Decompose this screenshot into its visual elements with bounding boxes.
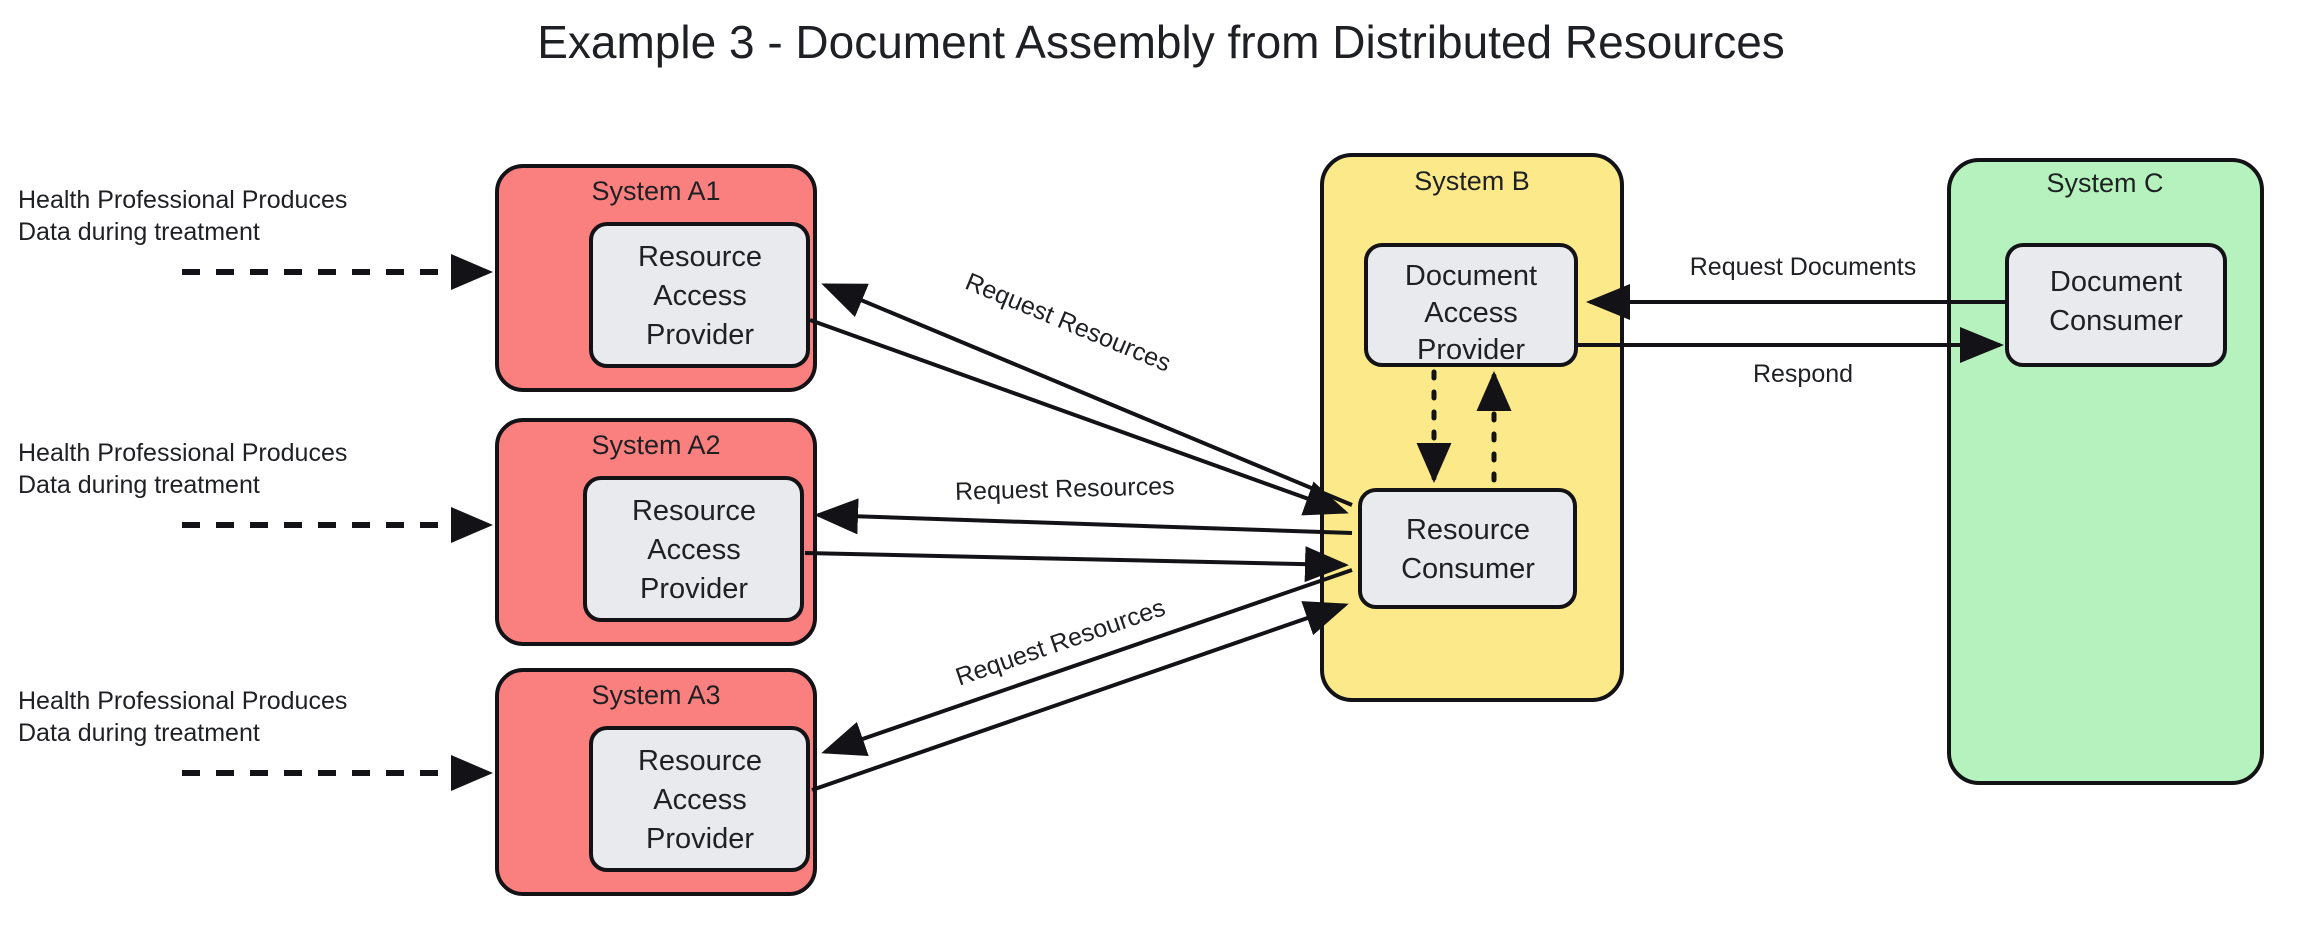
note-health-professional-3: Health Professional Produces Data during… [18, 687, 347, 747]
cluster-system-b[interactable]: System B Document Access Provider Resour… [1322, 155, 1622, 700]
dap-line-2: Access [1424, 297, 1517, 329]
node-resource-access-provider-1[interactable]: Resource Access Provider [591, 224, 808, 366]
note3-line-2: Data during treatment [18, 719, 260, 747]
note-health-professional-2: Health Professional Produces Data during… [18, 439, 347, 499]
page-title: Example 3 - Document Assembly from Distr… [537, 16, 1785, 68]
node-resource-access-provider-2[interactable]: Resource Access Provider [585, 478, 802, 620]
diagram-root: Example 3 - Document Assembly from Distr… [0, 0, 2323, 940]
note3-line-1: Health Professional Produces [18, 687, 347, 715]
rap1-line-2: Access [653, 280, 746, 312]
note1-line-2: Data during treatment [18, 218, 260, 246]
dap-line-1: Document [1405, 260, 1537, 292]
node-document-consumer[interactable]: Document Consumer [2007, 245, 2225, 365]
rap1-line-3: Provider [646, 319, 754, 351]
rap1-line-1: Resource [638, 241, 762, 273]
system-a3-label: System A3 [591, 680, 720, 710]
rap3-line-1: Resource [638, 745, 762, 777]
rc-box [1360, 490, 1575, 607]
note-health-professional-1: Health Professional Produces Data during… [18, 186, 347, 246]
cluster-system-c[interactable]: System C Document Consumer [1949, 160, 2262, 783]
system-c-label: System C [2046, 168, 2163, 198]
rc-line-2: Consumer [1401, 553, 1535, 585]
edge-label-request-documents: Request Documents [1690, 253, 1917, 281]
system-b-background [1322, 155, 1622, 700]
edge-rc-to-rap2[interactable] [818, 515, 1352, 533]
node-resource-consumer[interactable]: Resource Consumer [1360, 490, 1575, 607]
edge-rc-to-rap3[interactable] [825, 570, 1352, 752]
dap-line-3: Provider [1417, 334, 1525, 366]
cluster-system-a2[interactable]: System A2 Resource Access Provider [497, 420, 815, 644]
note1-line-1: Health Professional Produces [18, 186, 347, 214]
dc-line-2: Consumer [2049, 305, 2183, 337]
cluster-system-a1[interactable]: System A1 Resource Access Provider [497, 166, 815, 390]
rc-line-1: Resource [1406, 514, 1530, 546]
dc-line-1: Document [2050, 266, 2182, 298]
system-a2-label: System A2 [591, 430, 720, 460]
edge-label-request-resources-1: Request Resources [961, 268, 1175, 378]
rap3-line-3: Provider [646, 823, 754, 855]
diagram-canvas: Example 3 - Document Assembly from Distr… [0, 0, 2323, 940]
note2-line-1: Health Professional Produces [18, 439, 347, 467]
system-b-label: System B [1414, 166, 1530, 196]
system-a1-label: System A1 [591, 176, 720, 206]
rap3-line-2: Access [653, 784, 746, 816]
note2-line-2: Data during treatment [18, 471, 260, 499]
edge-label-respond: Respond [1753, 360, 1853, 388]
cluster-system-a3[interactable]: System A3 Resource Access Provider [497, 670, 815, 894]
rap2-line-3: Provider [640, 573, 748, 605]
node-document-access-provider[interactable]: Document Access Provider [1366, 245, 1576, 366]
edge-label-request-resources-2: Request Resources [955, 472, 1175, 506]
rap2-line-1: Resource [632, 495, 756, 527]
node-resource-access-provider-3[interactable]: Resource Access Provider [591, 728, 808, 870]
edge-rap2-to-rc[interactable] [805, 553, 1345, 565]
rap2-line-2: Access [647, 534, 740, 566]
